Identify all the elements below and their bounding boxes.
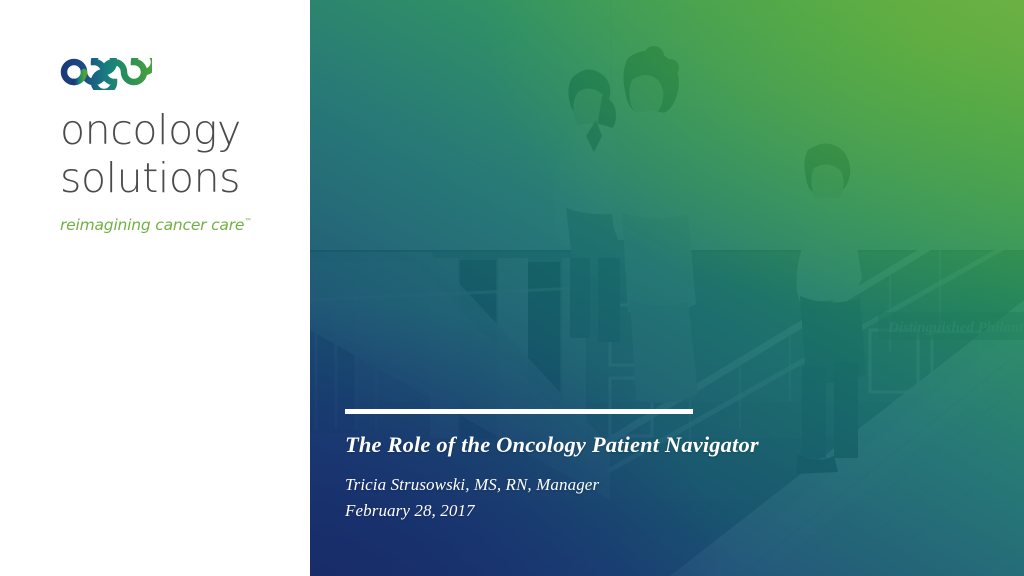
title-divider-rule [345,409,693,414]
hero-image-panel: Distinguished Philanthropists [310,0,1024,576]
trademark-symbol: ™ [244,217,252,226]
brand-panel: oncology solutions reimagining cancer ca… [0,0,310,576]
company-logo: oncology solutions reimagining cancer ca… [60,58,290,234]
title-slide: oncology solutions reimagining cancer ca… [0,0,1024,576]
presentation-date: February 28, 2017 [345,498,985,524]
wordmark-line-2: solutions [60,154,290,202]
brand-tagline: reimagining cancer care™ [60,216,290,234]
presenter-name: Tricia Strusowski, MS, RN, Manager [345,472,985,498]
infinity-loops-icon [60,58,152,90]
slide-title: The Role of the Oncology Patient Navigat… [345,432,985,458]
title-block: The Role of the Oncology Patient Navigat… [345,409,985,523]
tagline-text: reimagining cancer care [60,216,244,234]
wordmark-line-1: oncology [60,106,290,154]
